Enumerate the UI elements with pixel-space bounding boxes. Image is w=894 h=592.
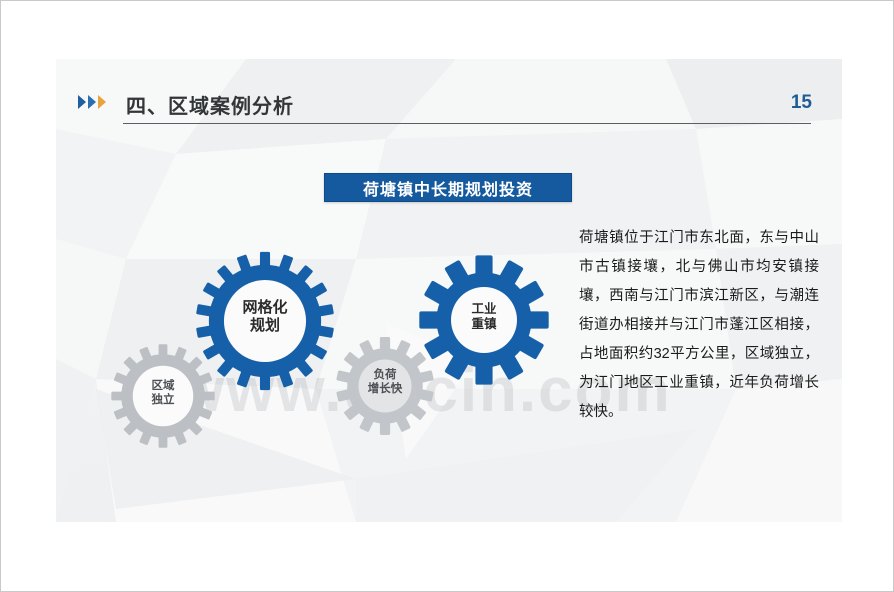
gear-industrial-town: 工业 重镇: [418, 254, 550, 386]
slide-canvas: www.docin.com 四、区域案例分析 15 荷塘镇中长期规划投资: [56, 59, 842, 522]
gear-label-industrial-town: 工业 重镇: [418, 302, 550, 333]
document-page: www.docin.com 四、区域案例分析 15 荷塘镇中长期规划投资: [0, 0, 894, 592]
gear-grid-planning: 网格化 规划: [193, 249, 337, 393]
body-paragraph: 荷塘镇位于江门市东北面，东与中山市古镇接壤，北与佛山市均安镇接壤，西南与江门市滨…: [579, 224, 819, 427]
gear-label-grid-planning: 网格化 规划: [193, 299, 337, 336]
